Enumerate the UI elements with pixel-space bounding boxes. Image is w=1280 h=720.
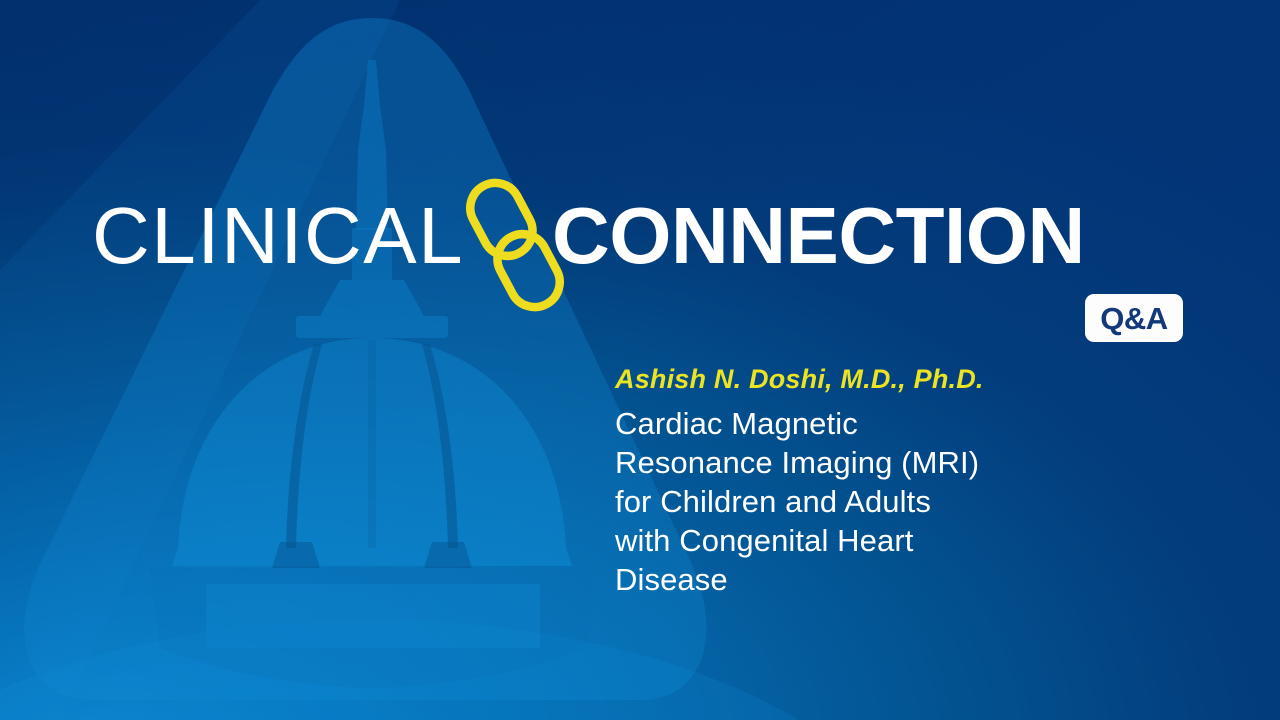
background-vignette <box>0 0 1280 720</box>
talk-title-line: with Congenital Heart <box>615 521 1085 560</box>
chain-link-icon <box>440 170 590 320</box>
talk-title: Cardiac Magnetic Resonance Imaging (MRI)… <box>615 404 1085 599</box>
logo-word-clinical: CLINICAL <box>92 186 464 286</box>
title-slide: CLINICAL CONNECTION Q&A Ashish N. Doshi,… <box>0 0 1280 720</box>
qa-badge: Q&A <box>1085 294 1183 342</box>
talk-title-line: for Children and Adults <box>615 482 1085 521</box>
qa-badge-label: Q&A <box>1100 303 1167 334</box>
presenter-name: Ashish N. Doshi, M.D., Ph.D. <box>615 362 1085 396</box>
talk-title-line: Resonance Imaging (MRI) <box>615 443 1085 482</box>
talk-info-block: Ashish N. Doshi, M.D., Ph.D. Cardiac Mag… <box>615 362 1085 599</box>
logo-lockup: CLINICAL CONNECTION <box>0 186 1280 296</box>
chain-link-lower <box>489 225 569 316</box>
talk-title-line: Disease <box>615 560 1085 599</box>
logo-word-connection: CONNECTION <box>552 186 1085 286</box>
talk-title-line: Cardiac Magnetic <box>615 404 1085 443</box>
